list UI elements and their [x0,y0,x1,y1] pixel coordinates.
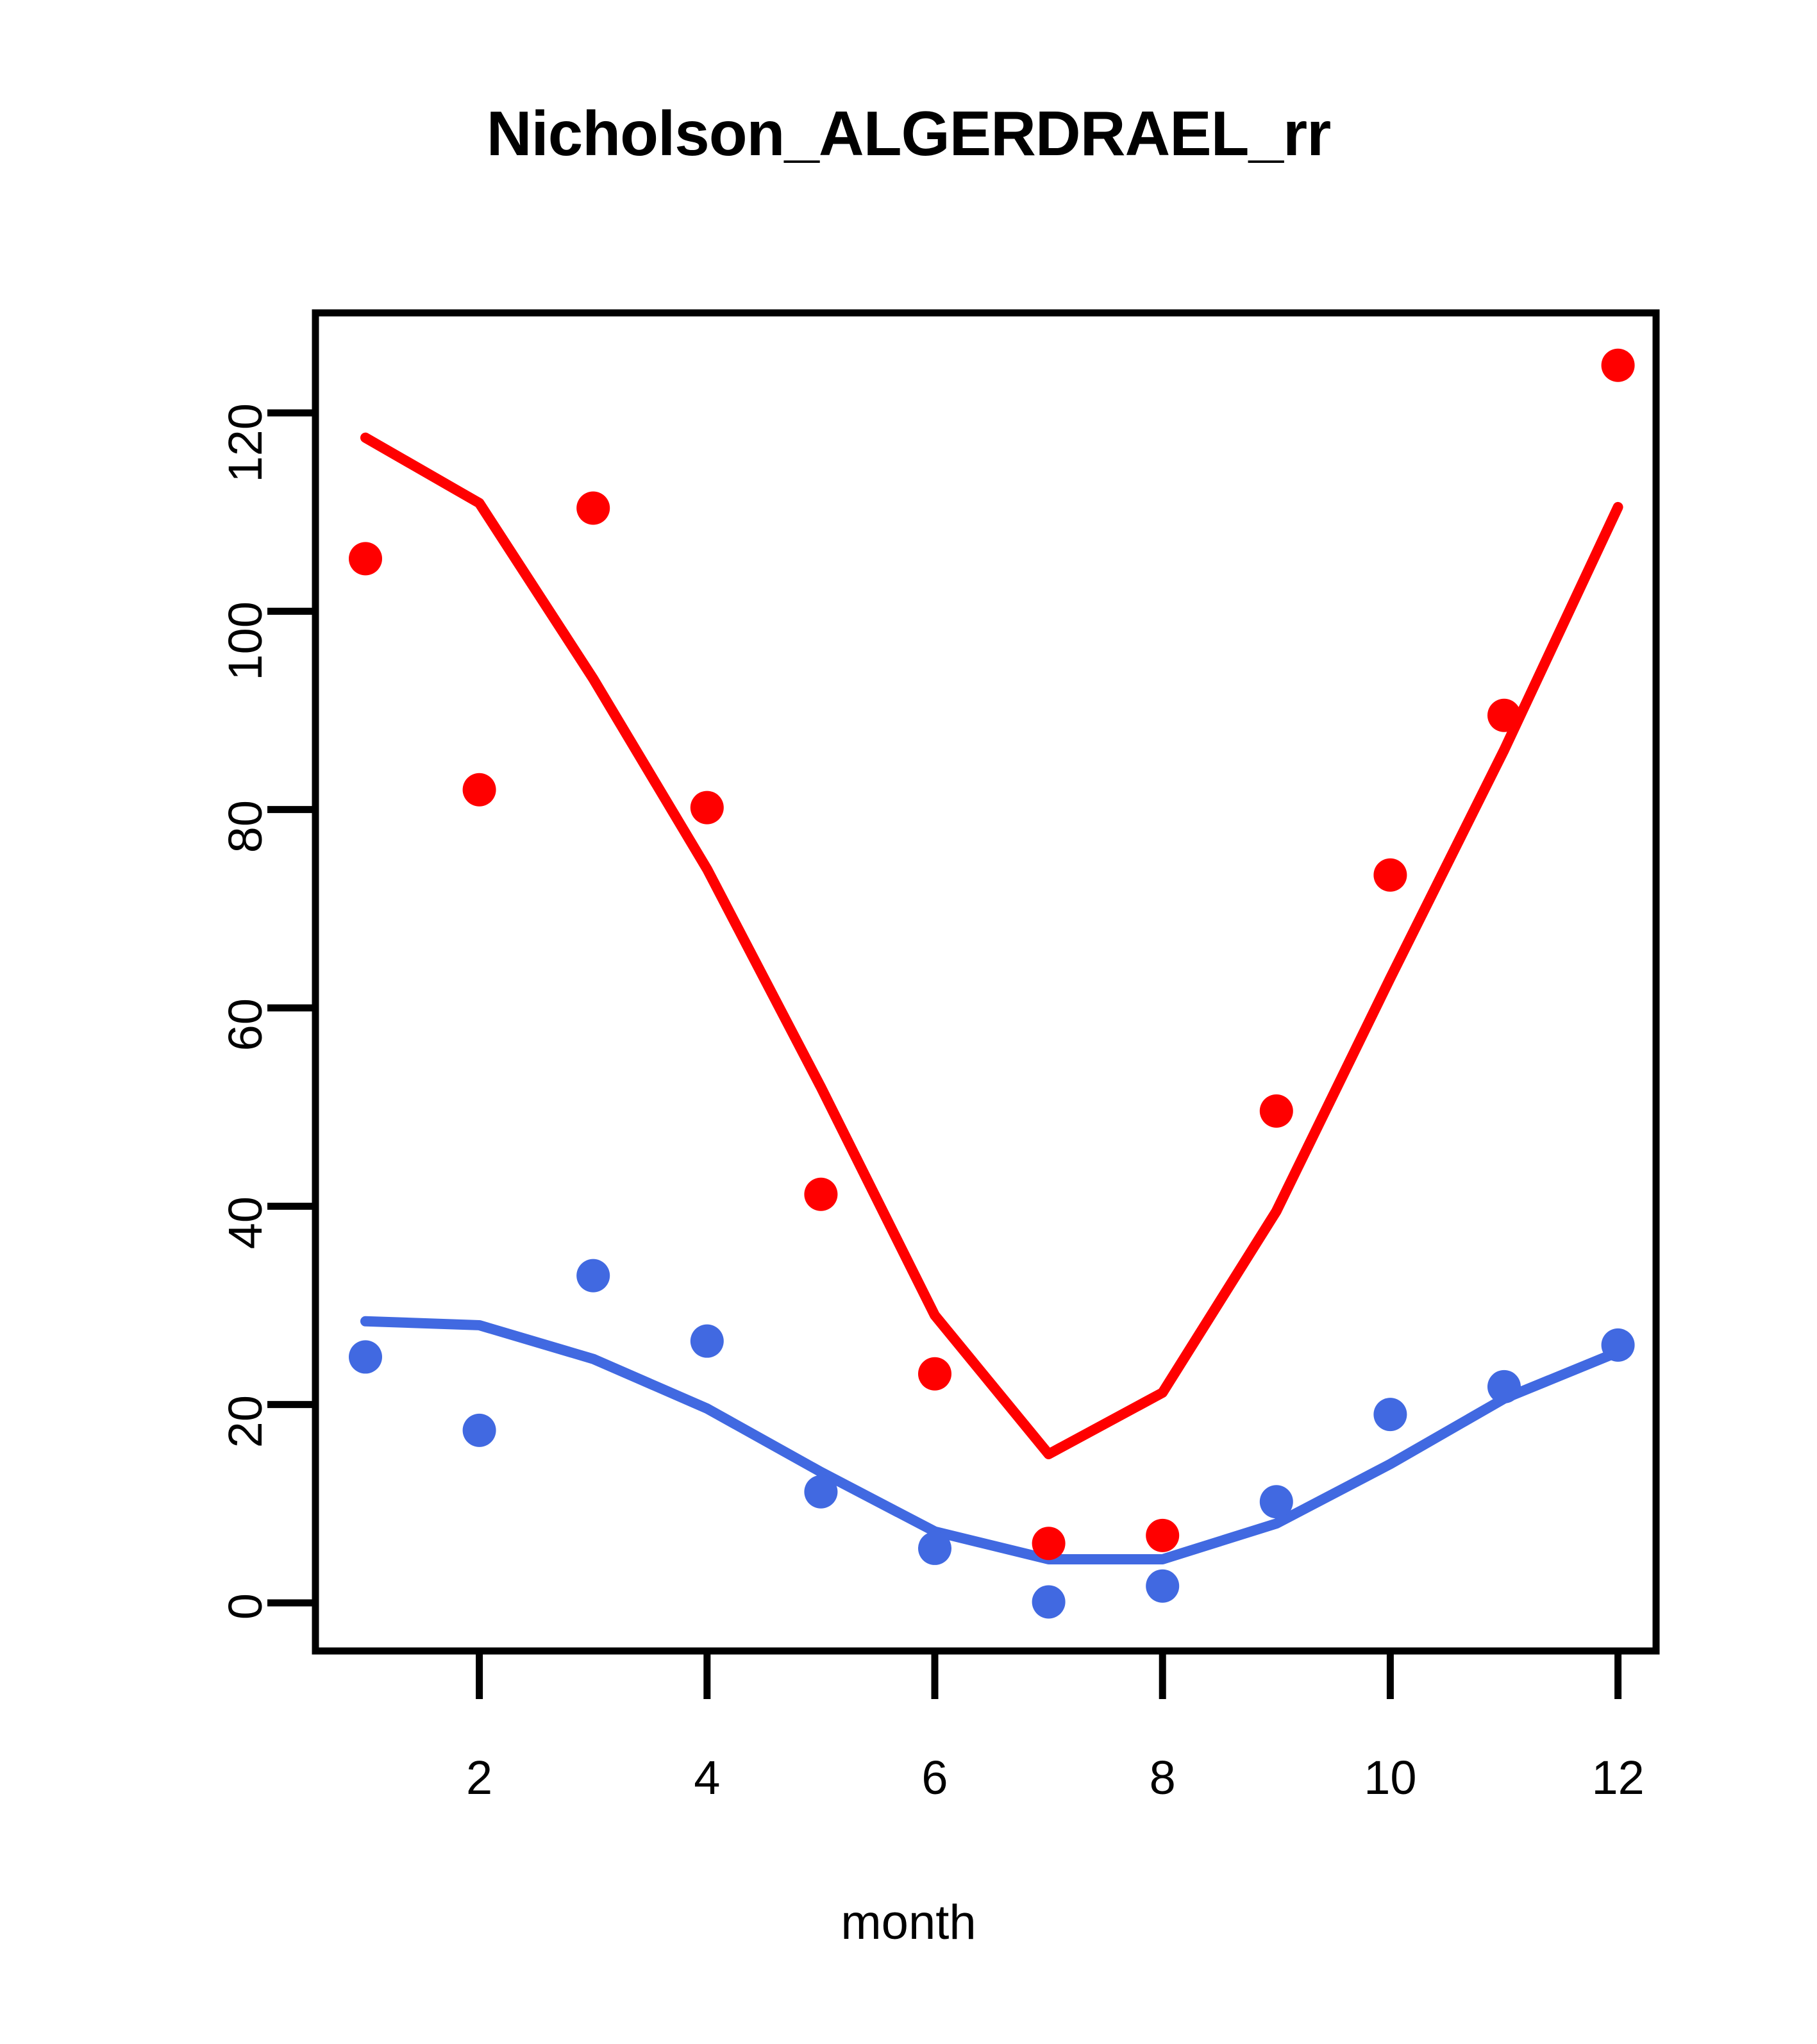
data-point [1032,1585,1066,1618]
data-point [1146,1519,1179,1552]
y-tick-label-120: 120 [218,403,272,660]
x-tick-label-2: 2 [383,1750,576,1805]
data-point [804,1475,837,1509]
data-point [576,491,610,524]
data-point [691,791,724,825]
data-point [1602,349,1635,382]
x-tick-label-12: 12 [1522,1750,1714,1805]
series-line-blue-line [365,1321,1618,1559]
y-axis-ticks [267,413,315,1603]
data-point [804,1178,837,1211]
x-axis-ticks [480,1651,1618,1699]
plot-border [315,313,1656,1651]
x-tick-label-10: 10 [1294,1750,1486,1805]
data-point [463,773,496,807]
data-point [463,1414,496,1447]
x-tick-label-6: 6 [839,1750,1031,1805]
data-point [1260,1094,1293,1128]
data-point [576,1259,610,1293]
data-point [1373,859,1407,892]
scatter-plot [0,0,1817,2044]
data-point [1032,1527,1066,1560]
data-point [918,1532,951,1565]
series-line-red-line [365,438,1618,1454]
series-points [349,349,1635,1619]
series-lines [365,438,1618,1559]
chart-canvas: Nicholson_ALGERDRAEL_rr 020406080100120 … [0,0,1817,2044]
data-point [1487,1370,1521,1403]
axis-box [315,313,1656,1651]
data-point [349,542,382,575]
x-tick-label-8: 8 [1066,1750,1259,1805]
data-point [1602,1328,1635,1362]
data-point [349,1340,382,1373]
x-axis-title: month [0,1895,1817,1950]
data-point [1487,699,1521,732]
data-point [1146,1570,1179,1603]
data-point [691,1325,724,1358]
x-tick-label-4: 4 [611,1750,803,1805]
data-point [1373,1398,1407,1431]
data-point [1260,1485,1293,1518]
data-point [918,1357,951,1391]
